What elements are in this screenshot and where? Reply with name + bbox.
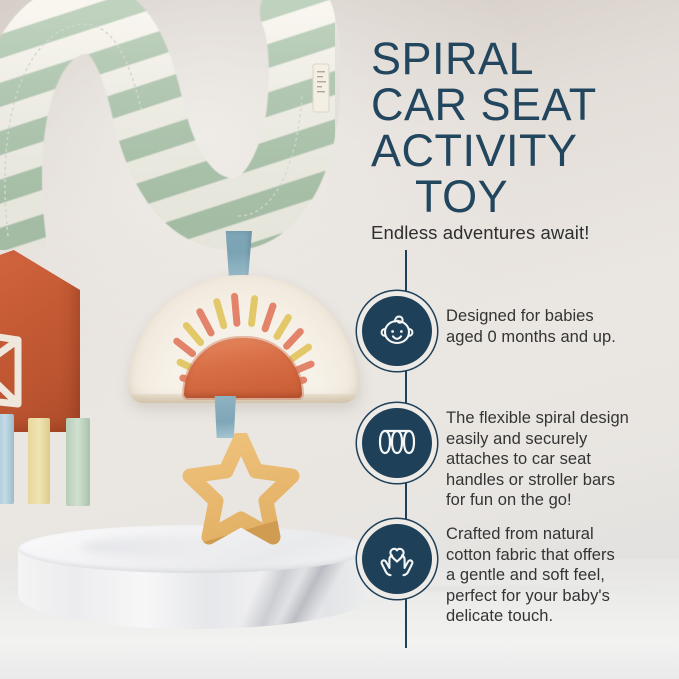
- title-line-4: TOY: [371, 174, 673, 220]
- barn-door-icon: [0, 318, 58, 410]
- feature-text-age: Designed for babies aged 0 months and up…: [446, 296, 616, 347]
- page-title: SPIRAL CAR SEAT ACTIVITY TOY: [371, 36, 673, 220]
- product-infographic: SPIRAL CAR SEAT ACTIVITY TOY Endless adv…: [0, 0, 679, 679]
- ribbon-tag-green: [66, 418, 90, 506]
- feature-2-line-5: for fun on the go!: [446, 490, 629, 511]
- feature-2-line-4: handles or stroller bars: [446, 470, 629, 491]
- feature-text-material: Crafted from natural cotton fabric that …: [446, 524, 615, 627]
- feature-3-line-2: cotton fabric that offers: [446, 545, 615, 566]
- title-line-3: ACTIVITY: [371, 128, 673, 174]
- feature-1-line-2: aged 0 months and up.: [446, 327, 616, 348]
- star-teether-ring: [182, 433, 300, 545]
- spiral-coil-icon: [362, 408, 432, 478]
- spiral-shape-icon: [0, 0, 348, 250]
- feature-1-line-1: Designed for babies: [446, 306, 616, 327]
- feature-item-attachment: The flexible spiral design easily and se…: [362, 408, 672, 511]
- spiral-blue-tab: [224, 231, 252, 279]
- feature-2-line-3: attaches to car seat: [446, 449, 629, 470]
- title-line-1: SPIRAL: [371, 36, 673, 82]
- feature-list: Designed for babies aged 0 months and up…: [362, 288, 672, 648]
- hands-holding-heart-icon: [362, 524, 432, 594]
- feature-3-line-4: perfect for your baby's: [446, 586, 615, 607]
- baby-face-icon: [362, 296, 432, 366]
- subtitle: Endless adventures await!: [371, 222, 673, 244]
- ribbon-tag-blue: [0, 414, 14, 504]
- feature-item-age: Designed for babies aged 0 months and up…: [362, 296, 672, 366]
- feature-3-line-5: delicate touch.: [446, 606, 615, 627]
- title-line-2: CAR SEAT: [371, 82, 673, 128]
- sun-plush: [128, 275, 358, 403]
- feature-item-material: Crafted from natural cotton fabric that …: [362, 524, 672, 627]
- feature-2-line-1: The flexible spiral design: [446, 408, 629, 429]
- feature-3-line-1: Crafted from natural: [446, 524, 615, 545]
- feature-2-line-2: easily and securely: [446, 429, 629, 450]
- sun-blue-tab: [212, 396, 238, 438]
- spiral-plush-toy: [0, 0, 348, 250]
- brand-hang-tag: [310, 62, 334, 116]
- feature-text-attachment: The flexible spiral design easily and se…: [446, 408, 629, 511]
- ribbon-tag-yellow: [28, 418, 50, 504]
- feature-3-line-3: a gentle and soft feel,: [446, 565, 615, 586]
